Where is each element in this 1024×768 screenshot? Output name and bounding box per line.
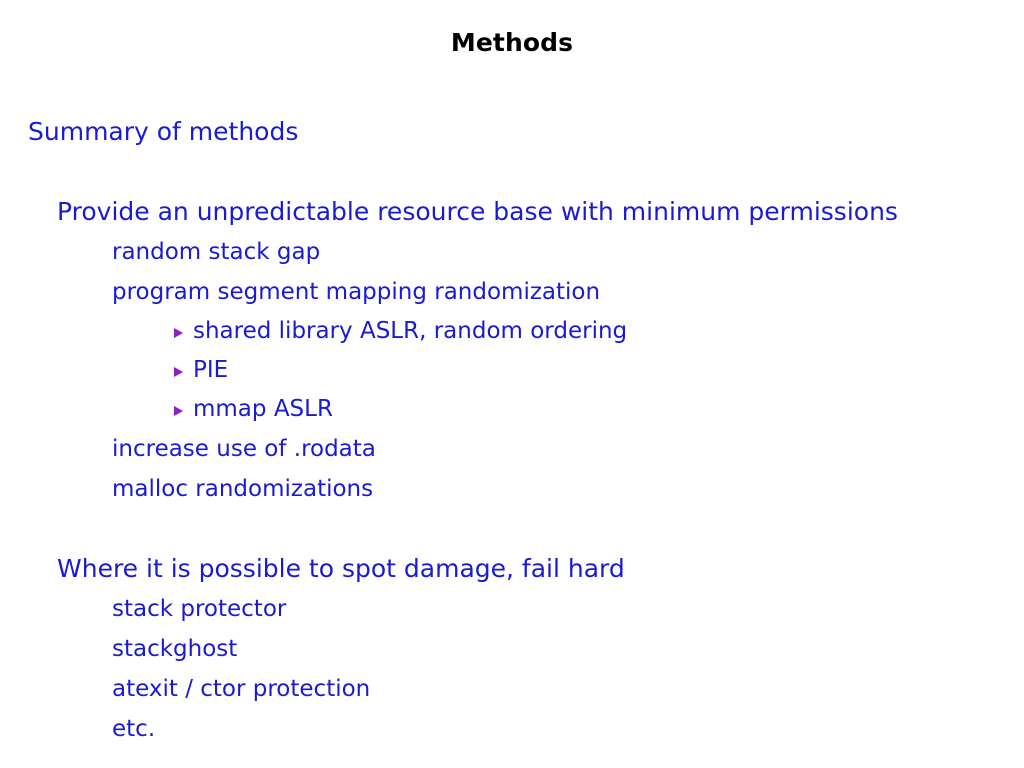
page-title: Methods [0,28,1024,58]
list-item-random-stack-gap: random stack gap [112,232,1024,272]
slide-canvas: Methods Summary of methods Provide an un… [0,0,1024,768]
list-item-atexit-ctor-protection: atexit / ctor protection [112,669,1024,709]
body-heading: Summary of methods [28,112,1024,152]
list-item-mmap-aslr: mmap ASLR [174,390,1024,429]
spacer-1 [0,152,1024,192]
list-item-label: shared library ASLR, random ordering [193,312,627,351]
list-item-stackghost: stackghost [112,629,1024,669]
slide-body: Summary of methods Provide an unpredicta… [0,112,1024,749]
list-item-program-segment-mapping-randomization: program segment mapping randomization [112,272,1024,312]
list-item-etc: etc. [112,709,1024,749]
spacer-2 [0,509,1024,549]
list-item-shared-library-aslr: shared library ASLR, random ordering [174,312,1024,351]
section-heading-provide-unpredictable-resource-base: Provide an unpredictable resource base w… [57,192,1024,232]
triangle-right-icon [174,328,183,338]
triangle-right-icon [174,367,183,377]
list-item-stack-protector: stack protector [112,589,1024,629]
list-item-label: mmap ASLR [193,390,333,429]
list-item-pie: PIE [174,351,1024,390]
section-heading-spot-damage-fail-hard: Where it is possible to spot damage, fai… [57,549,1024,589]
list-item-malloc-randomizations: malloc randomizations [112,469,1024,509]
triangle-right-icon [174,406,183,416]
list-item-increase-use-of-rodata: increase use of .rodata [112,429,1024,469]
list-item-label: PIE [193,351,228,390]
